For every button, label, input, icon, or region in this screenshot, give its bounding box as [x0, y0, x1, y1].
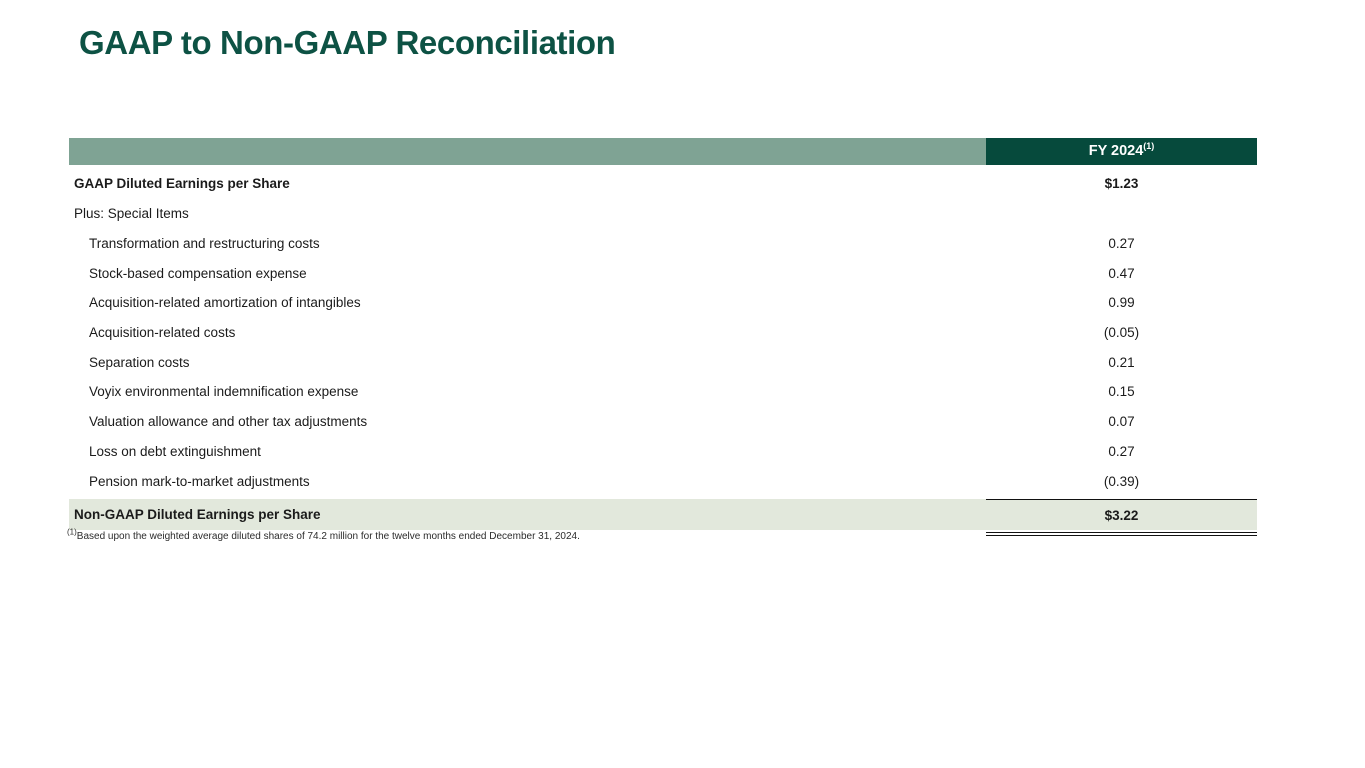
table-row: Plus: Special Items: [69, 199, 1257, 229]
table-total-row: Non-GAAP Diluted Earnings per Share $3.2…: [69, 499, 1257, 530]
table-header-label-cell: [69, 138, 986, 165]
table-header-period-cell: FY 2024(1): [986, 138, 1257, 165]
table-row-value: 0.47: [986, 266, 1257, 281]
table-row-value: 0.27: [986, 236, 1257, 251]
total-row-value: $3.22: [986, 499, 1257, 530]
table-row: Valuation allowance and other tax adjust…: [69, 407, 1257, 437]
table-row-label: Stock-based compensation expense: [69, 266, 986, 281]
table-row-label: Separation costs: [69, 355, 986, 370]
table-row: Separation costs0.21: [69, 347, 1257, 377]
table-row-label: Acquisition-related amortization of inta…: [69, 295, 986, 310]
table-row-label: Acquisition-related costs: [69, 325, 986, 340]
footnote-marker: (1): [67, 528, 77, 537]
total-double-rule: [986, 532, 1257, 536]
total-row-label: Non-GAAP Diluted Earnings per Share: [69, 499, 986, 530]
page-title: GAAP to Non-GAAP Reconciliation: [79, 24, 615, 62]
table-row-value: 0.99: [986, 295, 1257, 310]
table-row-label: Transformation and restructuring costs: [69, 236, 986, 251]
table-row: Acquisition-related costs(0.05): [69, 318, 1257, 348]
table-row: Transformation and restructuring costs0.…: [69, 229, 1257, 259]
slide: GAAP to Non-GAAP Reconciliation FY 2024(…: [0, 0, 1365, 768]
table-row-label: Plus: Special Items: [69, 206, 986, 221]
table-header-footnote-marker: (1): [1143, 141, 1154, 151]
table-body: GAAP Diluted Earnings per Share$1.23Plus…: [69, 165, 1257, 496]
footnote-text: Based upon the weighted average diluted …: [77, 531, 580, 542]
table-row-value: 0.21: [986, 355, 1257, 370]
table-row: Acquisition-related amortization of inta…: [69, 288, 1257, 318]
reconciliation-table: FY 2024(1) GAAP Diluted Earnings per Sha…: [69, 138, 1257, 530]
table-row: GAAP Diluted Earnings per Share$1.23: [69, 165, 1257, 199]
table-row: Voyix environmental indemnification expe…: [69, 377, 1257, 407]
table-row-label: Voyix environmental indemnification expe…: [69, 384, 986, 399]
table-header-period-text: FY 2024: [1089, 143, 1144, 159]
table-row-value: (0.39): [986, 474, 1257, 489]
table-row-value: 0.15: [986, 384, 1257, 399]
table-row: Pension mark-to-market adjustments(0.39): [69, 466, 1257, 496]
table-row: Stock-based compensation expense0.47: [69, 258, 1257, 288]
table-row-label: Valuation allowance and other tax adjust…: [69, 414, 986, 429]
footnote: (1)Based upon the weighted average dilut…: [67, 531, 580, 542]
table-row-label: Loss on debt extinguishment: [69, 444, 986, 459]
table-row-value: (0.05): [986, 325, 1257, 340]
table-row-value: 0.27: [986, 444, 1257, 459]
table-row: Loss on debt extinguishment0.27: [69, 437, 1257, 467]
table-row-label: Pension mark-to-market adjustments: [69, 474, 986, 489]
table-row-label: GAAP Diluted Earnings per Share: [69, 176, 986, 191]
table-header-row: FY 2024(1): [69, 138, 1257, 165]
table-row-value: $1.23: [986, 176, 1257, 191]
table-row-value: 0.07: [986, 414, 1257, 429]
